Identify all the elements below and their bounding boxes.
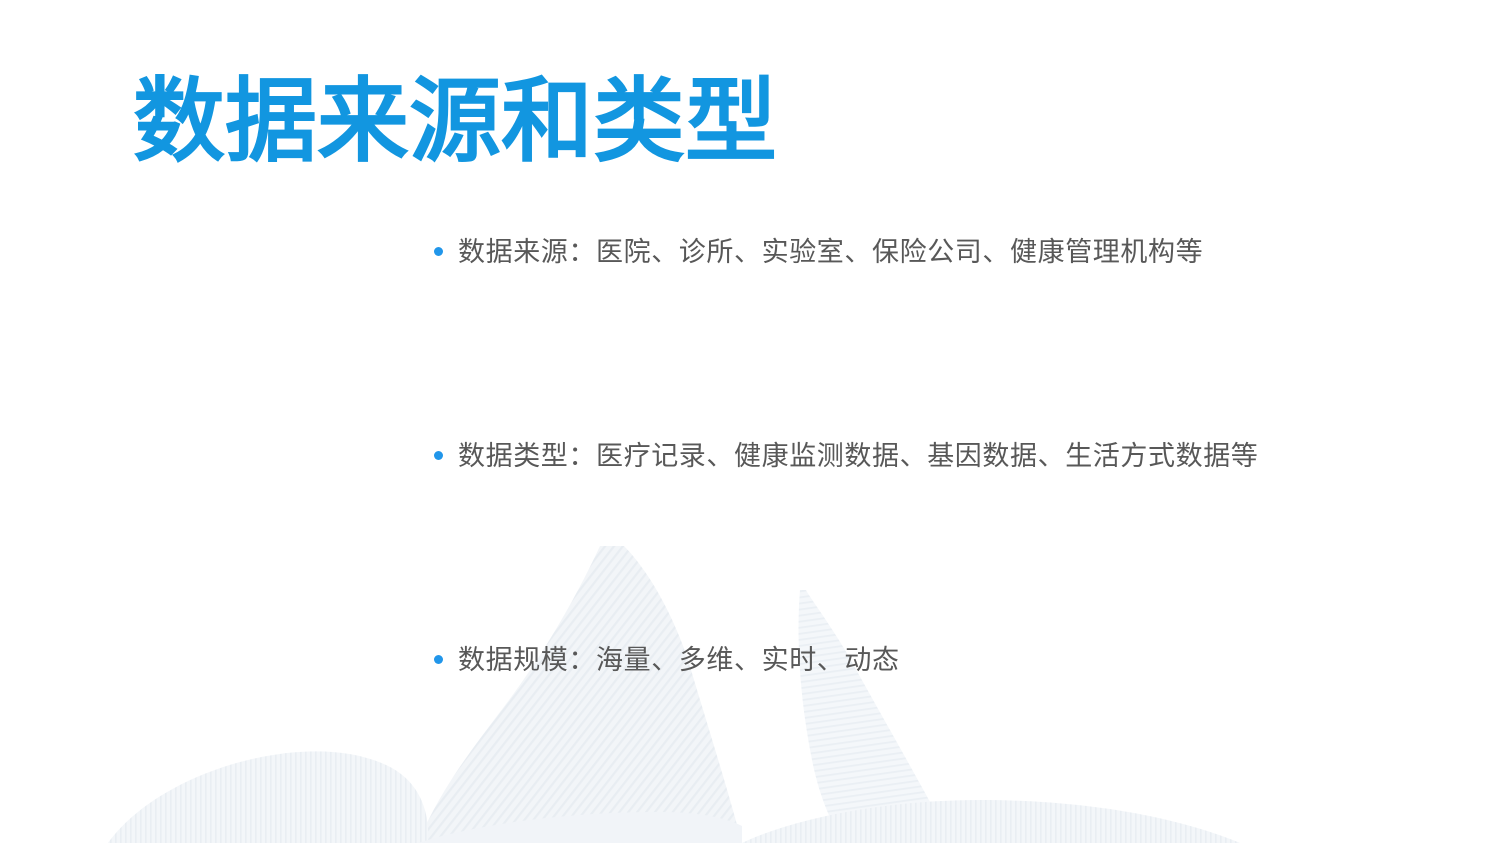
bullet-dot-icon	[434, 451, 443, 460]
bullet-dot-icon	[434, 247, 443, 256]
list-item: 数据类型：医疗记录、健康监测数据、基因数据、生活方式数据等	[434, 436, 1334, 640]
title-block: 数据来源和类型	[133, 74, 777, 172]
bullet-text: 数据类型：医疗记录、健康监测数据、基因数据、生活方式数据等	[458, 436, 1334, 476]
list-item: 数据来源：医院、诊所、实验室、保险公司、健康管理机构等	[434, 232, 1334, 436]
bullet-text: 数据规模：海量、多维、实时、动态	[458, 640, 1334, 680]
bullet-dot-icon	[434, 655, 443, 664]
page-title: 数据来源和类型	[133, 74, 777, 172]
bullet-list: 数据来源：医院、诊所、实验室、保险公司、健康管理机构等 数据类型：医疗记录、健康…	[434, 232, 1334, 680]
list-item: 数据规模：海量、多维、实时、动态	[434, 640, 1334, 680]
presentation-slide: 数据来源和类型 数据来源：医院、诊所、实验室、保险公司、健康管理机构等 数据类型…	[0, 0, 1500, 843]
bullet-text: 数据来源：医院、诊所、实验室、保险公司、健康管理机构等	[458, 232, 1334, 272]
